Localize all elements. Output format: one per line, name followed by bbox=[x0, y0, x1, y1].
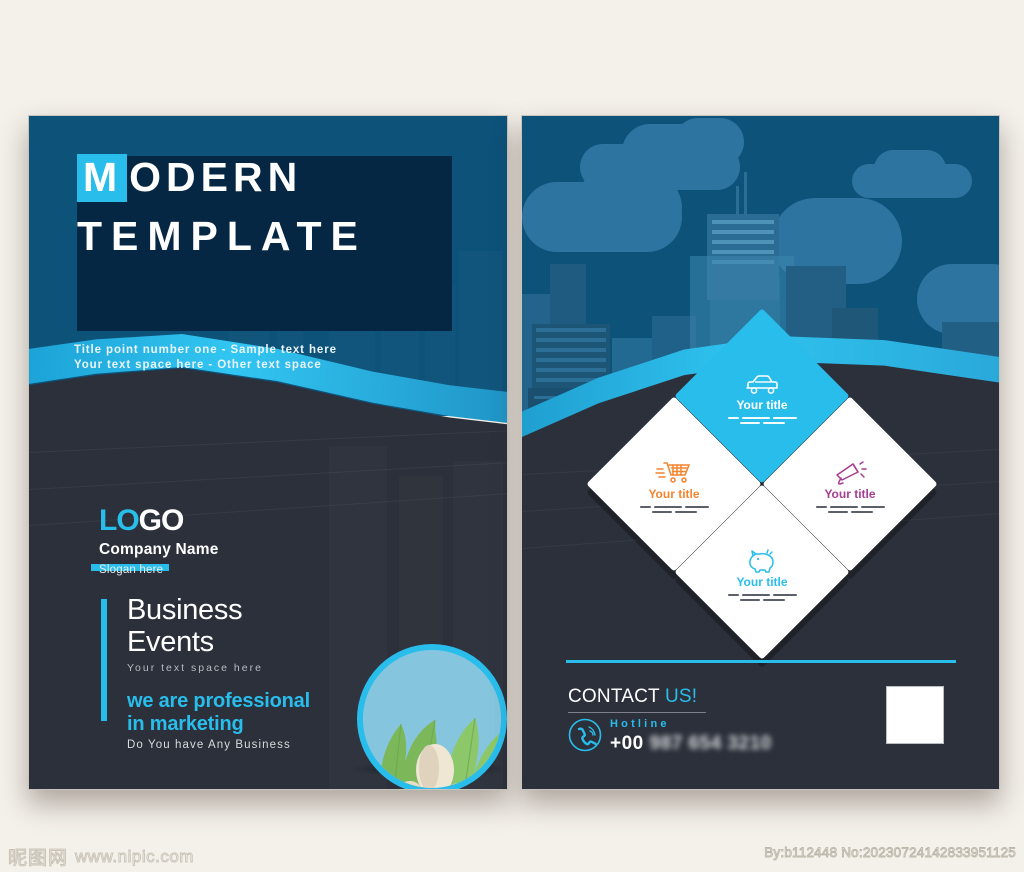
business-heading-line1: Business bbox=[127, 594, 397, 626]
title-line-template: TEMPLATE bbox=[77, 216, 367, 257]
nipic-logo-cn: 昵图网 bbox=[8, 843, 68, 870]
hotline-label: Hotline bbox=[610, 718, 670, 730]
contact-heading: CONTACT US! bbox=[568, 686, 697, 708]
business-accent-bar bbox=[101, 599, 107, 721]
subtitle-line-2: Your text space here - Other text space bbox=[74, 358, 337, 373]
title-line-modern: MODERN bbox=[77, 154, 302, 202]
diamond-placeholder-lines bbox=[728, 417, 797, 423]
screenshot-canvas: MODERN TEMPLATE Title point number one -… bbox=[0, 0, 1024, 872]
contact-divider-rule bbox=[566, 660, 956, 663]
logo-block: LOGO Company Name Slogan here bbox=[99, 506, 219, 574]
phone-icon[interactable] bbox=[568, 718, 602, 752]
nature-photo-circle bbox=[357, 644, 507, 790]
left-subtitle-block: Title point number one - Sample text her… bbox=[74, 343, 337, 373]
diamond-title-car: Your title bbox=[736, 398, 787, 412]
diamond-placeholder-lines bbox=[728, 594, 797, 600]
business-heading-line2: Events bbox=[127, 626, 397, 658]
phone-prefix: +00 bbox=[610, 733, 644, 754]
contact-heading-underline bbox=[568, 712, 706, 713]
slogan-row: Slogan here bbox=[99, 560, 219, 574]
brochure-page-right: Your title bbox=[521, 115, 1000, 790]
car-icon bbox=[743, 372, 781, 396]
logo-go: GO bbox=[139, 504, 184, 537]
promo-subtext: Do You have Any Business bbox=[127, 739, 397, 751]
company-name: Company Name bbox=[99, 541, 219, 559]
diamond-card-piggy-bank[interactable]: Your title bbox=[674, 484, 849, 659]
logo-text: LOGO bbox=[99, 506, 219, 536]
qr-code-placeholder bbox=[886, 686, 944, 744]
subtitle-line-1: Title point number one - Sample text her… bbox=[74, 343, 337, 358]
business-subtext: Your text space here bbox=[127, 662, 397, 674]
piggy-bank-icon bbox=[743, 547, 781, 573]
logo-lo: LO bbox=[99, 504, 139, 537]
phone-number-digits: 987 654 3210 bbox=[650, 733, 772, 754]
shopping-cart-icon bbox=[655, 459, 693, 485]
megaphone-icon bbox=[831, 459, 869, 485]
diamond-title-piggy-bank: Your title bbox=[736, 575, 787, 589]
hotline-number: +00 987 654 3210 bbox=[610, 733, 772, 755]
watermark-credit: By:b112448 No:20230724142833951125 bbox=[764, 845, 1016, 860]
diamond-placeholder-lines bbox=[640, 506, 709, 512]
diamond-card-group: Your title bbox=[587, 334, 937, 644]
contact-heading-accent: US! bbox=[665, 686, 697, 707]
contact-heading-main: CONTACT bbox=[568, 686, 665, 707]
diamond-title-megaphone: Your title bbox=[824, 487, 875, 501]
title-modern-rest: ODERN bbox=[129, 154, 302, 200]
watermark-left: 昵图网 www.nipic.com bbox=[8, 843, 194, 870]
slogan-text: Slogan here bbox=[99, 564, 163, 576]
title-m-badge: M bbox=[77, 154, 127, 202]
diamond-title-cart: Your title bbox=[648, 487, 699, 501]
brochure-page-left: MODERN TEMPLATE Title point number one -… bbox=[28, 115, 508, 790]
photo-foliage-illustration bbox=[363, 650, 507, 790]
promo-line1: we are professional bbox=[127, 690, 397, 713]
diamond-placeholder-lines bbox=[816, 506, 885, 512]
nipic-site-url: www.nipic.com bbox=[75, 847, 194, 867]
